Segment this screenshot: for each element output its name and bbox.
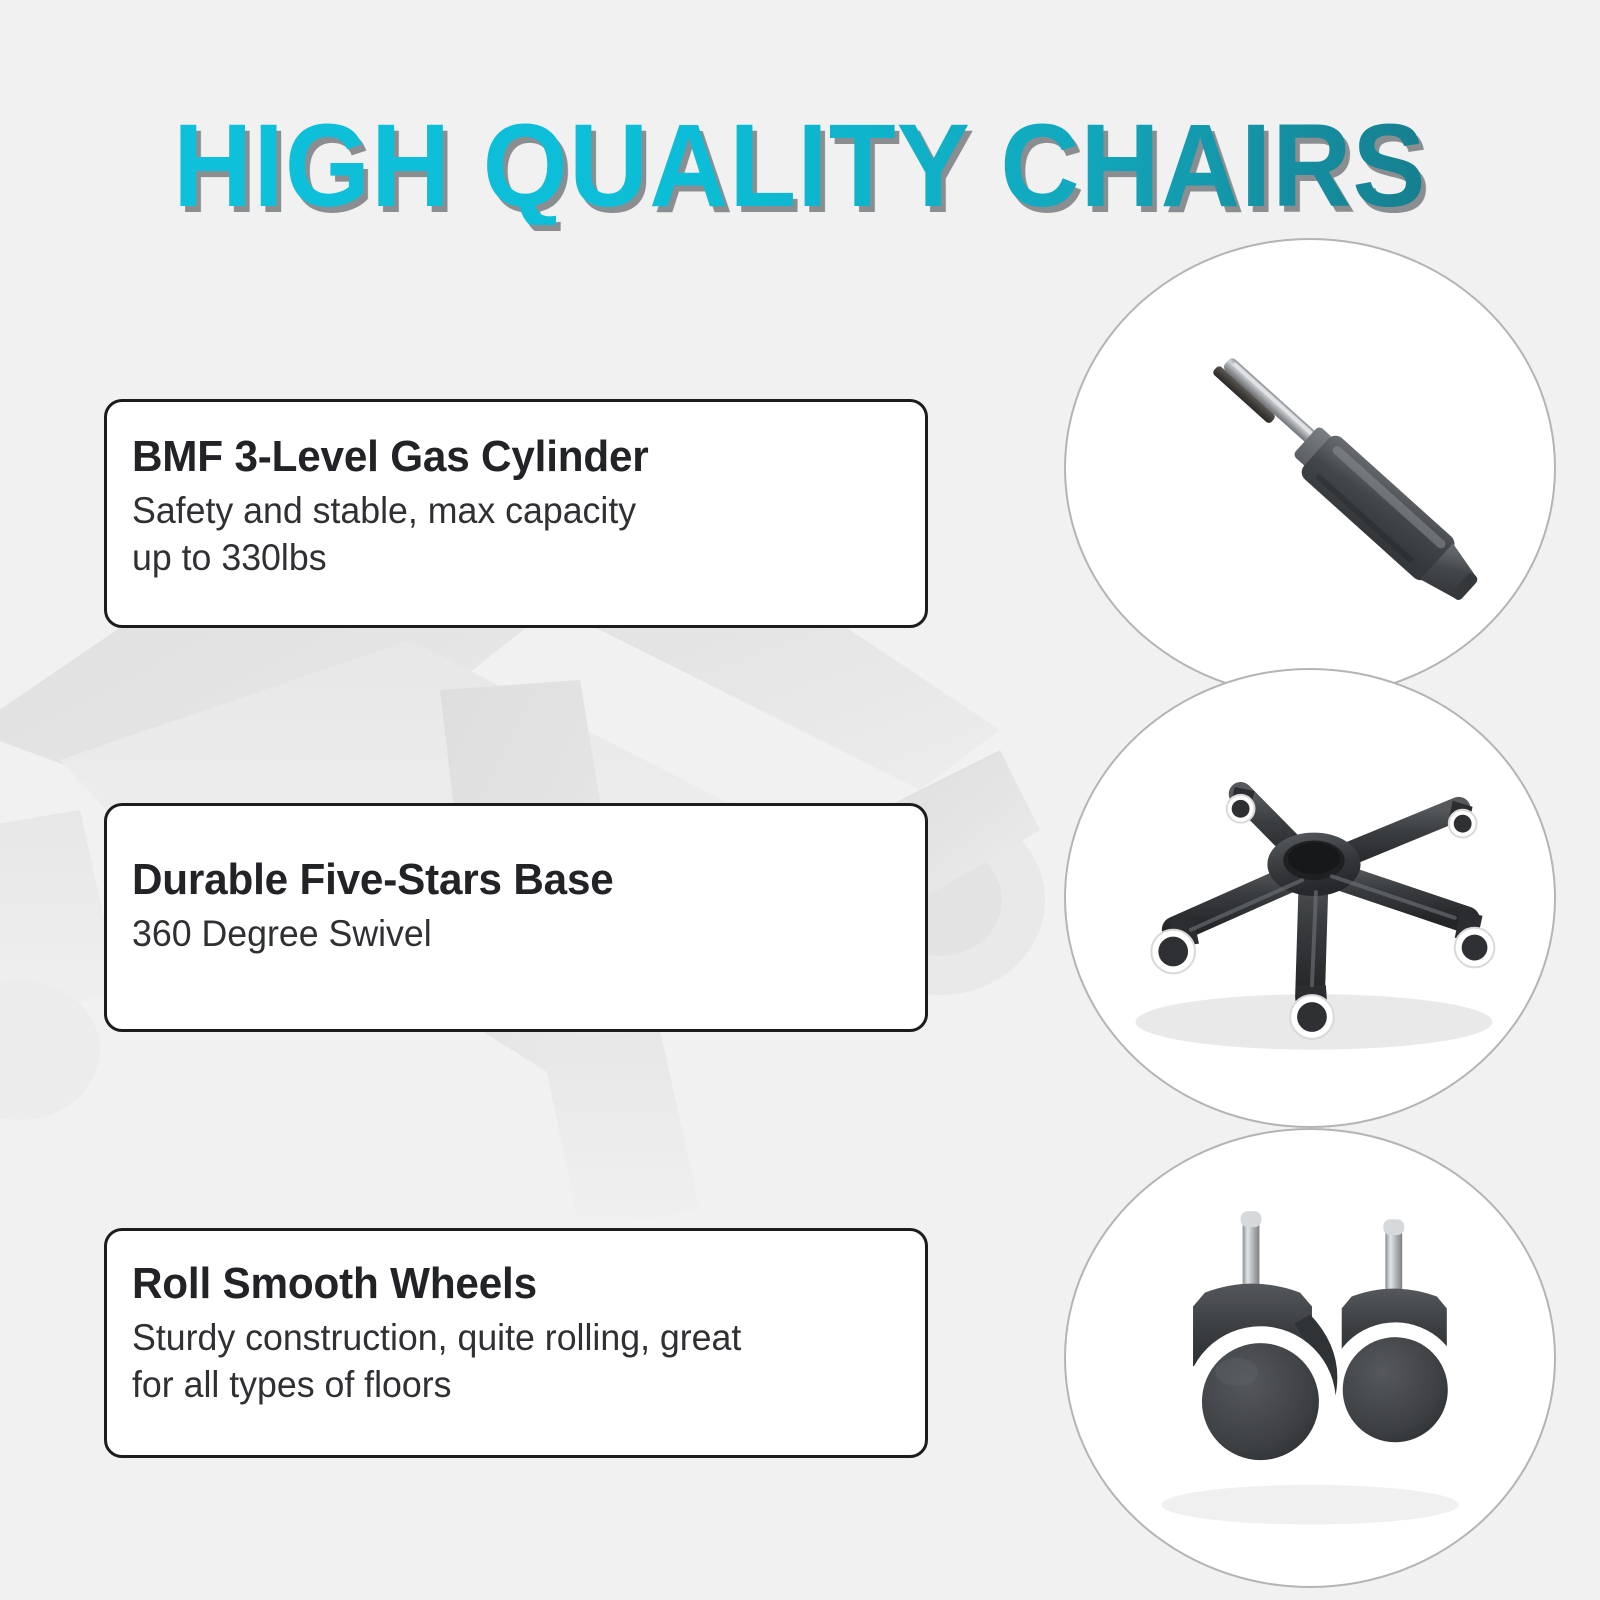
feature-title: Durable Five-Stars Base <box>132 854 870 906</box>
product-photo-column <box>1040 210 1580 1590</box>
feature-description: 360 Degree Swivel <box>132 910 874 957</box>
feature-card-five-star-base: Durable Five-Stars Base 360 Degree Swive… <box>104 803 928 1032</box>
feature-title: Roll Smooth Wheels <box>132 1258 870 1310</box>
page-title: HIGH QUALITY CHAIRS <box>173 107 1426 225</box>
feature-card-gas-cylinder: BMF 3-Level Gas Cylinder Safety and stab… <box>104 399 928 628</box>
feature-card-text: BMF 3-Level Gas Cylinder Safety and stab… <box>132 431 901 582</box>
feature-description: Safety and stable, max capacity up to 33… <box>132 487 874 582</box>
feature-card-roll-smooth-wheels: Roll Smooth Wheels Sturdy construction, … <box>104 1228 928 1458</box>
gas-cylinder-photo <box>1064 238 1556 698</box>
infographic-page: HIGH QUALITY CHAIRS BMF 3-Level Gas Cyli… <box>0 0 1600 1600</box>
feature-description: Sturdy construction, quite rolling, grea… <box>132 1314 874 1409</box>
feature-title: BMF 3-Level Gas Cylinder <box>132 431 870 483</box>
caster-wheels-photo <box>1064 1128 1556 1588</box>
feature-card-text: Durable Five-Stars Base 360 Degree Swive… <box>132 854 901 957</box>
feature-card-text: Roll Smooth Wheels Sturdy construction, … <box>132 1258 901 1409</box>
five-star-base-photo <box>1064 668 1556 1128</box>
